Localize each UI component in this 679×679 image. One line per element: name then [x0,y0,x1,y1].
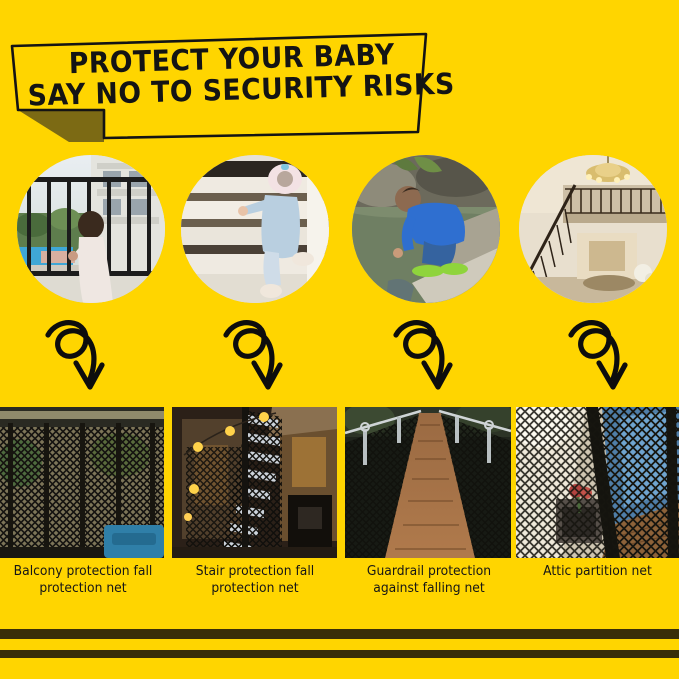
guardrail-net-image [345,407,511,558]
product-photo-balcony [0,407,164,558]
risk-photo-loft [519,155,667,303]
product-photo-attic [516,407,679,558]
risk-photo-balcony [17,155,165,303]
risk-photo-stairs [181,155,329,303]
curly-down-arrow-icon-4 [565,313,645,398]
risk-photo-pond [352,155,500,303]
headline-banner: PROTECT YOUR BABY SAY NO TO SECURITY RIS… [8,32,432,142]
open-loft-staircase-interior-image [519,155,667,303]
stair-net-image [172,407,337,558]
boy-at-pond-edge-image [352,155,500,303]
footer-bar-bottom [0,650,679,658]
product-photo-stairs [172,407,337,558]
curly-down-arrow-icon-3 [390,313,470,398]
banner-text-block: PROTECT YOUR BABY SAY NO TO SECURITY RIS… [8,20,435,142]
risk-photo-row [0,155,679,305]
product-photo-guardrail [345,407,511,558]
curly-down-arrow-icon-1 [42,313,122,398]
footer-bar-top [0,629,679,639]
caption-row: Balcony protection fall protection net S… [0,563,679,608]
poster-canvas: PROTECT YOUR BABY SAY NO TO SECURITY RIS… [0,0,679,679]
product-photo-row [0,407,679,558]
toddler-at-balcony-railing-image [17,155,165,303]
arrow-row [0,313,679,403]
caption-guardrail: Guardrail protection against falling net [349,563,509,597]
baby-climbing-stairs-image [181,155,329,303]
curly-down-arrow-icon-2 [220,313,300,398]
caption-stairs: Stair protection fall protection net [176,563,334,597]
caption-attic: Attic partition net [520,563,675,580]
balcony-net-image [0,407,164,558]
attic-net-image [516,407,679,558]
caption-balcony: Balcony protection fall protection net [6,563,160,597]
